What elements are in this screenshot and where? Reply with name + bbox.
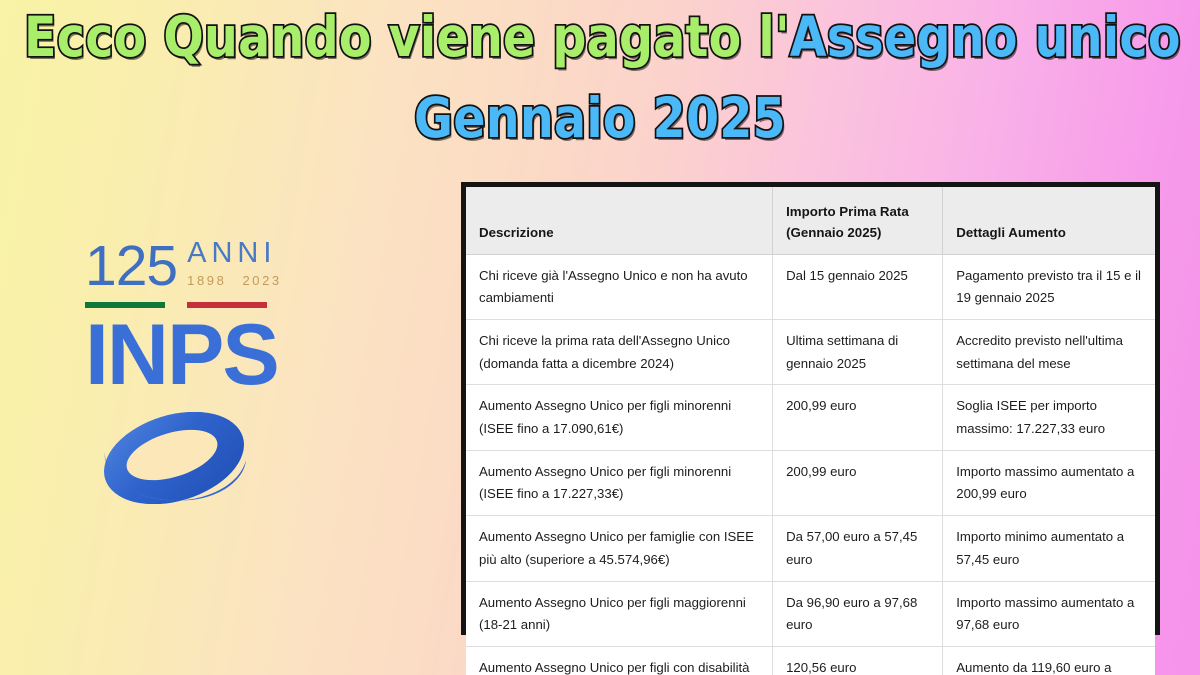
logo-anniversary-text-block: ANNI 1898 2023 [187,239,282,292]
cell-importo: Ultima settimana di gennaio 2025 [773,319,943,384]
table-row: Aumento Assegno Unico per figli minorenn… [466,450,1155,515]
cell-importo: Da 96,90 euro a 97,68 euro [773,581,943,646]
column-header-importo-line1: Importo Prima Rata [786,204,909,219]
logo-year-to: 2023 [242,273,281,288]
logo-anniversary-row: 125 ANNI 1898 2023 [85,236,270,292]
cell-descrizione: Chi riceve già l'Assegno Unico e non ha … [466,254,773,319]
cell-descrizione: Chi riceve la prima rata dell'Assegno Un… [466,319,773,384]
logo-year-from: 1898 [187,273,226,288]
inps-logo: 125 ANNI 1898 2023 INPS [85,236,270,546]
logo-wordmark: INPS [85,312,270,398]
cell-importo: 200,99 euro [773,385,943,450]
cell-importo: Dal 15 gennaio 2025 [773,254,943,319]
cell-dettagli: Importo minimo aumentato a 57,45 euro [943,516,1155,581]
cell-dettagli: Soglia ISEE per importo massimo: 17.227,… [943,385,1155,450]
table-header-row: Descrizione Importo Prima Rata(Gennaio 2… [466,187,1155,254]
title-line-1: Ecco Quando viene pagato l'Assegno unico [24,4,1176,65]
cell-importo: 200,99 euro [773,450,943,515]
table-body: Chi riceve già l'Assegno Unico e non ha … [466,254,1155,675]
cell-descrizione: Aumento Assegno Unico per famiglie con I… [466,516,773,581]
title-green-text: Ecco Quando viene pagato l' [24,5,790,69]
payment-schedule-table: Descrizione Importo Prima Rata(Gennaio 2… [461,182,1160,635]
table-row: Aumento Assegno Unico per figli con disa… [466,646,1155,675]
cell-importo: 120,56 euro [773,646,943,675]
cell-dettagli: Importo massimo aumentato a 200,99 euro [943,450,1155,515]
table-row: Chi riceve la prima rata dell'Assegno Un… [466,319,1155,384]
cell-importo: Da 57,00 euro a 57,45 euro [773,516,943,581]
column-header-dettagli: Dettagli Aumento [943,187,1155,254]
table-row: Aumento Assegno Unico per famiglie con I… [466,516,1155,581]
title-subtitle-text: Gennaio 2025 [414,86,786,150]
table-row: Aumento Assegno Unico per figli maggiore… [466,581,1155,646]
column-header-importo: Importo Prima Rata(Gennaio 2025) [773,187,943,254]
cell-descrizione: Aumento Assegno Unico per figli con disa… [466,646,773,675]
logo-anniversary-years: 1898 2023 [187,273,282,288]
column-header-importo-line2: (Gennaio 2025) [786,225,881,240]
table-row: Chi riceve già l'Assegno Unico e non ha … [466,254,1155,319]
cell-descrizione: Aumento Assegno Unico per figli minorenn… [466,450,773,515]
page-title: Ecco Quando viene pagato l'Assegno unico… [0,4,1200,146]
cell-dettagli: Pagamento previsto tra il 15 e il 19 gen… [943,254,1155,319]
logo-anniversary-word: ANNI [187,239,282,268]
cell-descrizione: Aumento Assegno Unico per figli minorenn… [466,385,773,450]
logo-ring-icon [99,412,270,509]
cell-descrizione: Aumento Assegno Unico per figli maggiore… [466,581,773,646]
title-line-2: Gennaio 2025 [24,65,1176,146]
logo-anniversary-number: 125 [85,240,177,292]
title-blue-text: Assegno unico [790,5,1181,69]
column-header-descrizione: Descrizione [466,187,773,254]
cell-dettagli: Aumento da 119,60 euro a 120,56 euro [943,646,1155,675]
table-row: Aumento Assegno Unico per figli minorenn… [466,385,1155,450]
cell-dettagli: Importo massimo aumentato a 97,68 euro [943,581,1155,646]
cell-dettagli: Accredito previsto nell'ultima settimana… [943,319,1155,384]
data-table: Descrizione Importo Prima Rata(Gennaio 2… [466,187,1155,675]
